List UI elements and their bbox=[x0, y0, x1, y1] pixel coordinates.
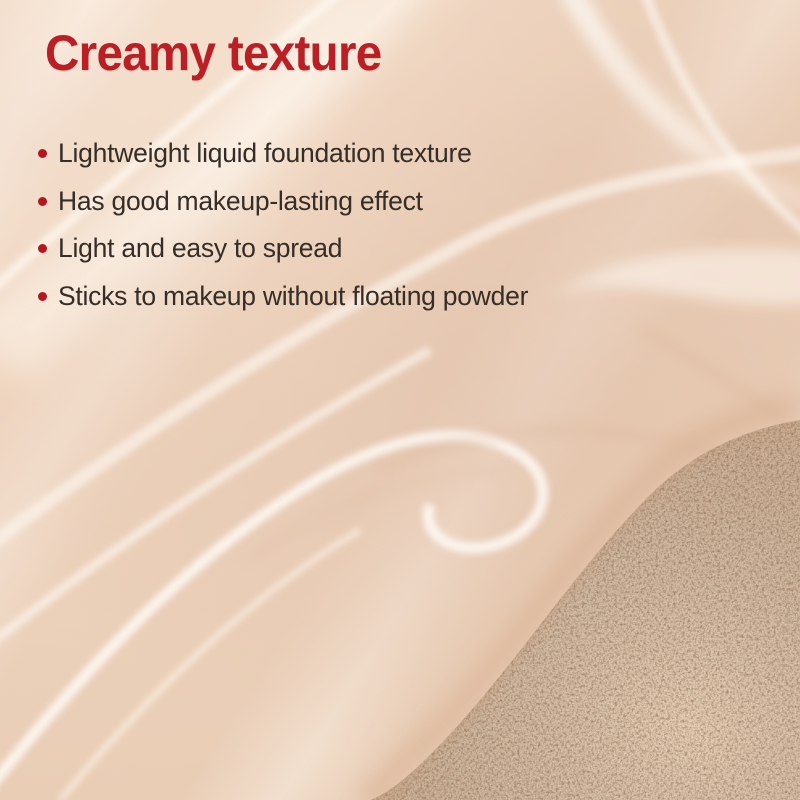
bullet-dot-icon bbox=[38, 244, 47, 253]
feature-list: Lightweight liquid foundation texture Ha… bbox=[36, 138, 536, 312]
bullet-dot-icon bbox=[38, 149, 47, 158]
page-title: Creamy texture bbox=[45, 25, 382, 81]
bullet-dot-icon bbox=[38, 197, 47, 206]
list-item: Lightweight liquid foundation texture bbox=[36, 138, 536, 169]
creamy-texture-banner: Creamy texture Lightweight liquid founda… bbox=[0, 0, 800, 800]
feature-text: Sticks to makeup without floating powder bbox=[58, 281, 536, 312]
feature-text: Light and easy to spread bbox=[58, 233, 536, 264]
list-item: Sticks to makeup without floating powder bbox=[36, 281, 536, 312]
bullet-dot-icon bbox=[38, 292, 47, 301]
cushion-sponge-texture bbox=[0, 0, 800, 800]
feature-text: Has good makeup-lasting effect bbox=[58, 186, 536, 217]
feature-text: Lightweight liquid foundation texture bbox=[58, 138, 536, 169]
list-item: Has good makeup-lasting effect bbox=[36, 186, 536, 217]
list-item: Light and easy to spread bbox=[36, 233, 536, 264]
